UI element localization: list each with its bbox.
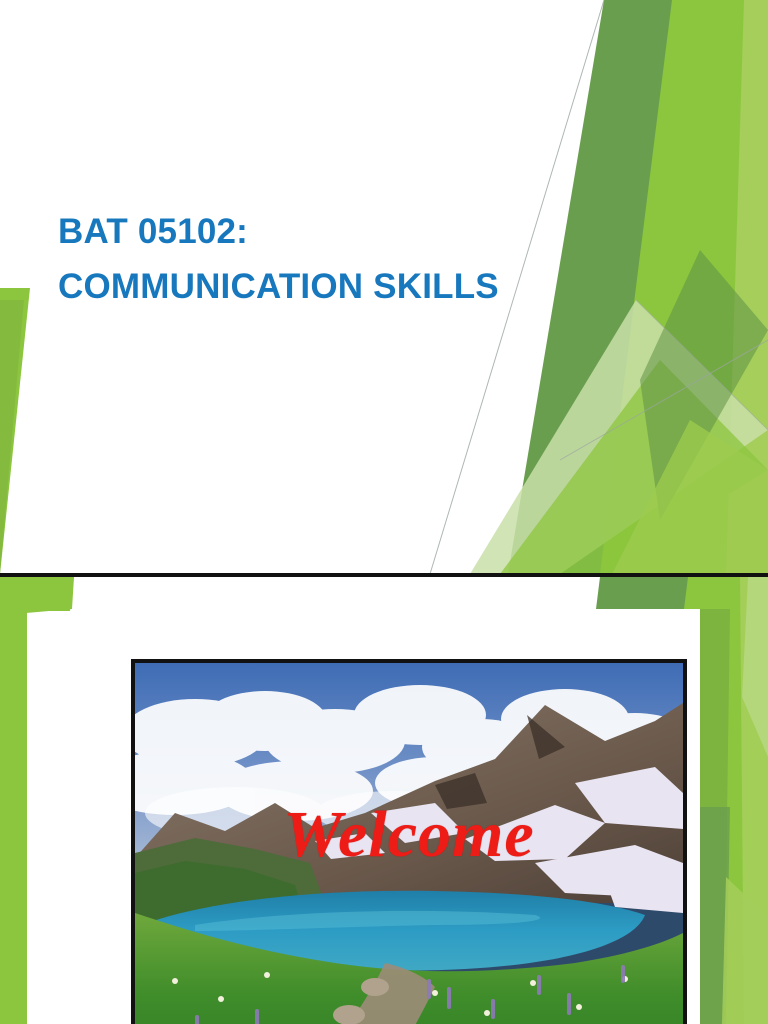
right-lower-light-wedge (722, 877, 768, 1024)
left-green-wedge-inner (0, 300, 24, 574)
hairline-3 (636, 300, 768, 430)
title-line-1: BAT 05102: (58, 205, 618, 259)
right-pale-wedge (742, 577, 768, 757)
page-title: BAT 05102: COMMUNICATION SKILLS (58, 205, 618, 314)
left-green-border (0, 577, 74, 1024)
right-mid-band (700, 609, 730, 1024)
light-green-overlay (612, 420, 768, 574)
title-line-2: COMMUNICATION SKILLS (58, 260, 618, 314)
slide-deck: BAT 05102: COMMUNICATION SKILLS (0, 0, 768, 1024)
welcome-picture[interactable]: Welcome (131, 659, 687, 1024)
slide-2-welcome[interactable]: Welcome (0, 577, 768, 1024)
right-top-bright-wedge (684, 577, 768, 609)
left-green-wedge (0, 288, 30, 574)
right-light-green-strip (726, 0, 768, 574)
hairline-2 (560, 340, 768, 460)
mid-green-triangle (500, 360, 768, 574)
pale-green-triangle (470, 300, 768, 574)
right-bright-green-band (600, 0, 768, 574)
right-top-dark-wedge (596, 577, 700, 609)
dark-green-triangle-lower (640, 250, 768, 520)
left-green-column (0, 577, 27, 1024)
right-bright-band (700, 577, 768, 1024)
right-light-band (740, 577, 768, 1024)
right-lower-dark-wedge (700, 807, 730, 1024)
welcome-caption: Welcome (135, 802, 683, 868)
left-green-notch (0, 577, 74, 611)
slide-1-title[interactable]: BAT 05102: COMMUNICATION SKILLS (0, 0, 768, 574)
left-green-bar (0, 577, 26, 1024)
